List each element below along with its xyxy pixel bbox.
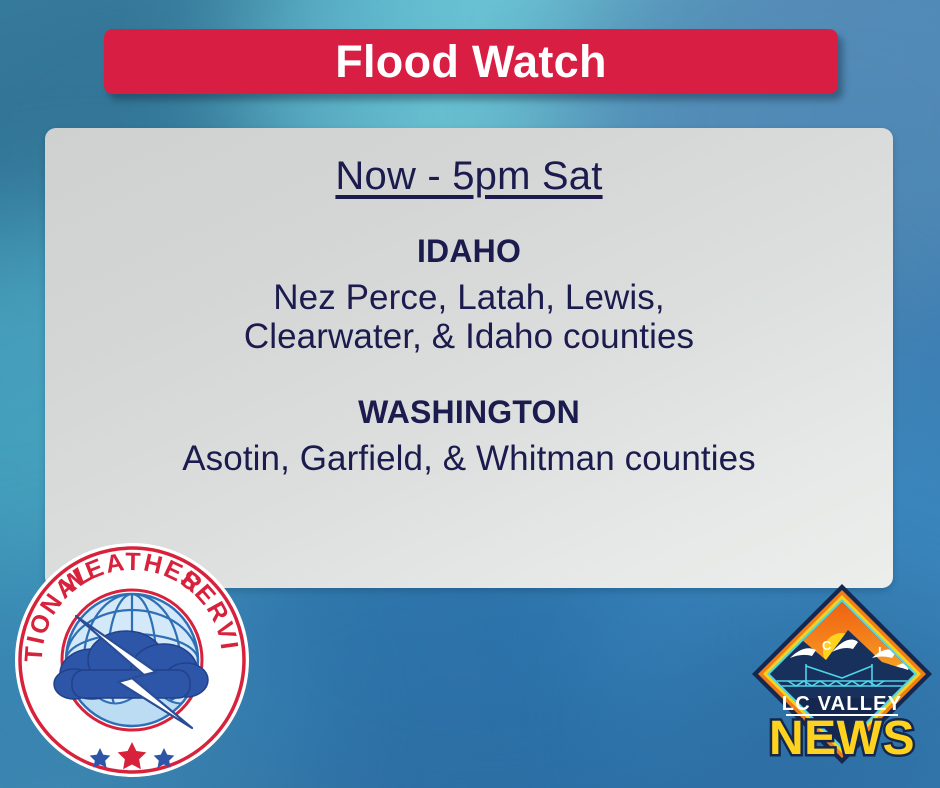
state-heading-washington: WASHINGTON: [45, 394, 893, 431]
alert-details-card: Now - 5pm Sat IDAHO Nez Perce, Latah, Le…: [45, 128, 893, 588]
weather-alert-graphic: Flood Watch Now - 5pm Sat IDAHO Nez Perc…: [0, 0, 940, 788]
nws-seal-icon: WEATHER NATIONAL SERVICE: [14, 542, 250, 778]
county-list-idaho-line2: Clearwater, & Idaho counties: [45, 317, 893, 356]
alert-title: Flood Watch: [335, 36, 607, 88]
county-list-washington-line1: Asotin, Garfield, & Whitman counties: [45, 439, 893, 478]
state-heading-idaho: IDAHO: [45, 233, 893, 270]
svg-text:L: L: [878, 644, 886, 659]
svg-text:C: C: [822, 638, 832, 653]
alert-timeframe: Now - 5pm Sat: [45, 154, 893, 199]
lcv-line2-text: NEWS: [769, 712, 915, 765]
alert-title-banner: Flood Watch: [104, 29, 838, 94]
lc-valley-news-logo: C L LC VALLEY NEWS: [744, 578, 940, 778]
county-list-idaho-line1: Nez Perce, Latah, Lewis,: [45, 278, 893, 317]
